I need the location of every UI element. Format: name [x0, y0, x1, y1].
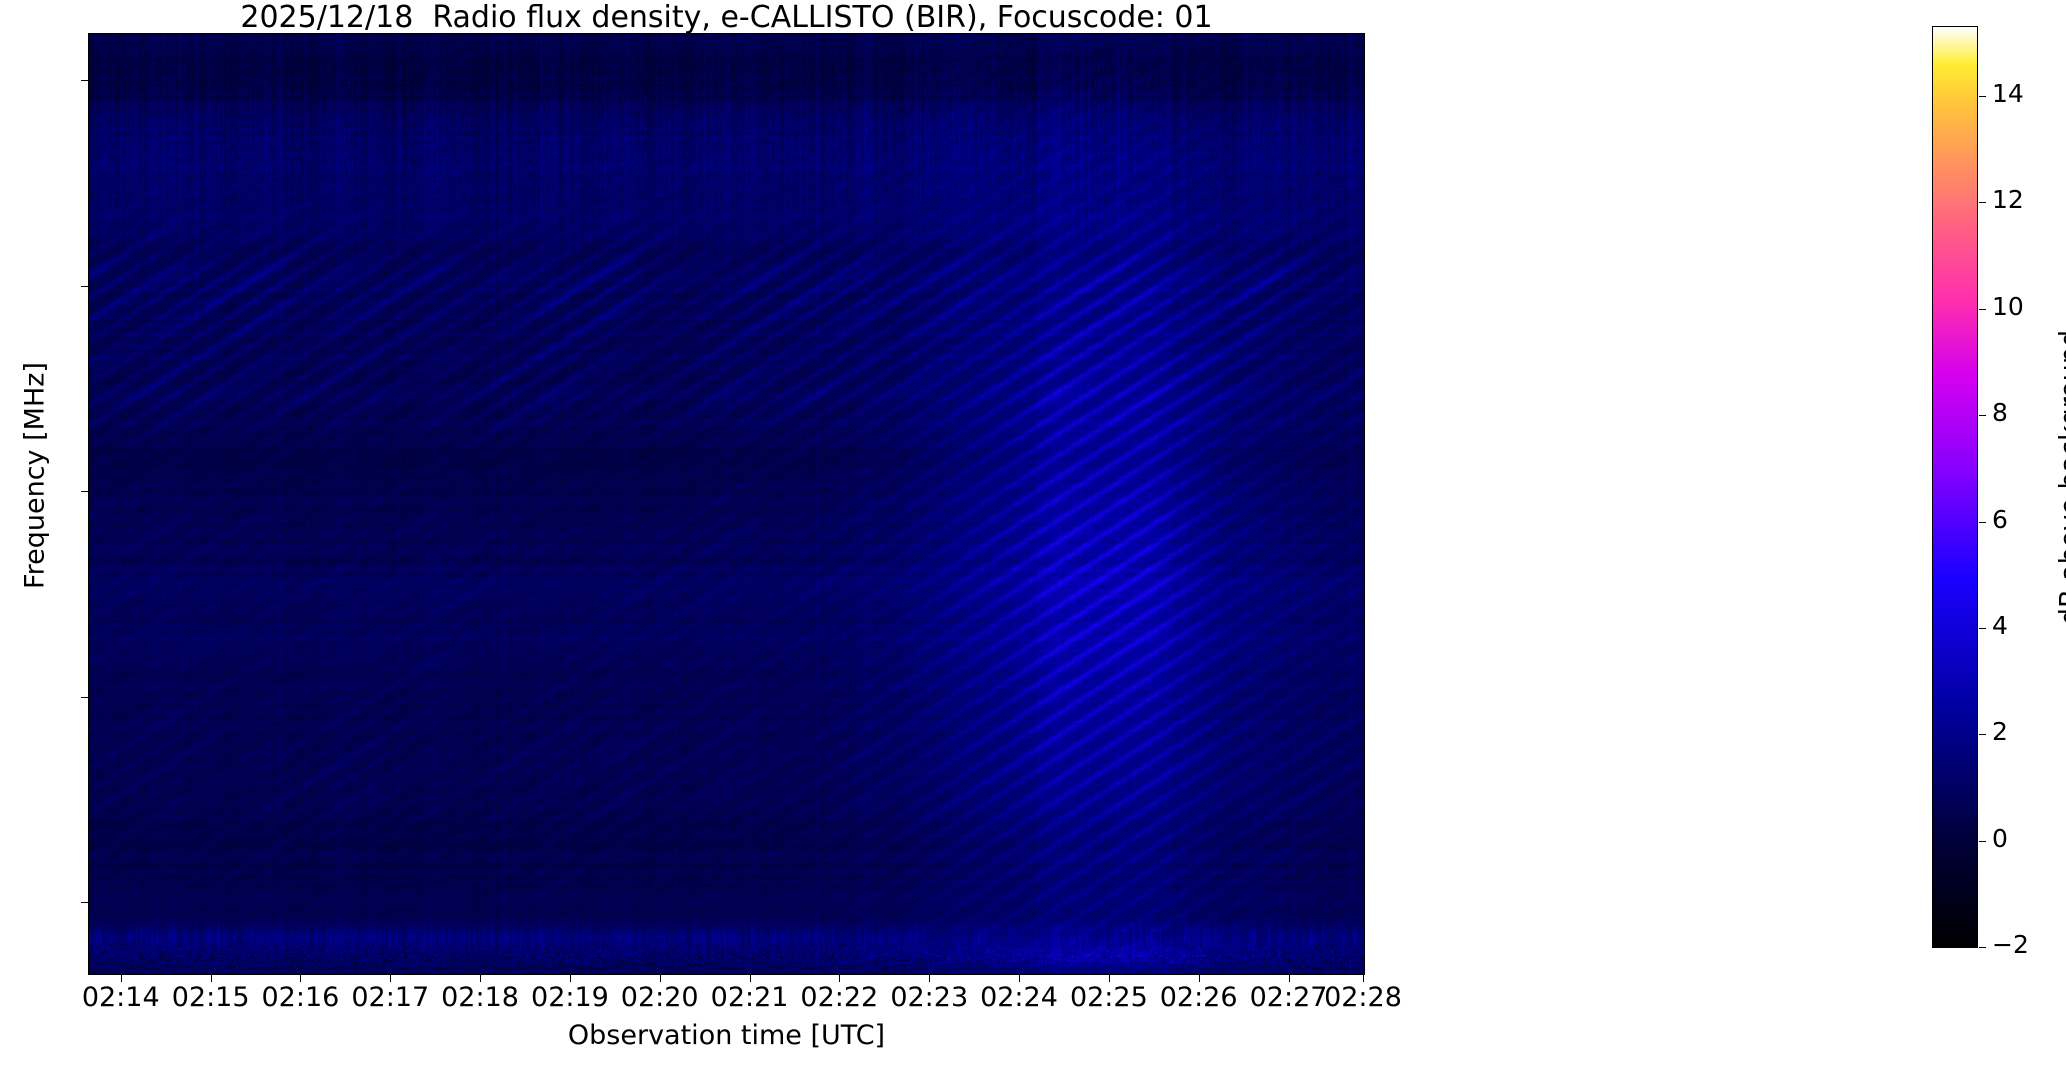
colorbar-tick-label: 14 — [1992, 79, 2024, 108]
colorbar-tick-label: 12 — [1992, 185, 2024, 214]
colorbar-tick-mark — [1979, 415, 1986, 416]
colorbar-tick-mark — [1979, 202, 1986, 203]
colorbar-tick-label: −2 — [1992, 930, 2029, 959]
colorbar-tick-mark — [1979, 734, 1986, 735]
x-tick-label: 02:27 — [1250, 982, 1328, 1013]
x-tick-label: 02:26 — [1160, 982, 1238, 1013]
x-tick-mark — [1109, 975, 1110, 982]
y-tick-mark — [81, 286, 88, 287]
x-tick-label: 02:22 — [800, 982, 878, 1013]
x-tick-mark — [839, 975, 840, 982]
colorbar-tick-label: 2 — [1992, 717, 2008, 746]
y-tick-mark — [81, 80, 88, 81]
x-tick-mark — [121, 975, 122, 982]
colorbar-tick-label: 6 — [1992, 505, 2008, 534]
colorbar-tick-mark — [1979, 841, 1986, 842]
colorbar-tick-mark — [1979, 96, 1986, 97]
x-tick-label: 02:23 — [890, 982, 968, 1013]
x-tick-label: 02:20 — [621, 982, 699, 1013]
colorbar-tick-label: 8 — [1992, 398, 2008, 427]
colorbar-tick-label: 10 — [1992, 292, 2024, 321]
x-tick-label: 02:16 — [261, 982, 339, 1013]
y-tick-mark — [81, 697, 88, 698]
y-tick-mark — [81, 902, 88, 903]
colorbar-tick-mark — [1979, 947, 1986, 948]
y-axis-label: Frequency [MHz] — [20, 196, 51, 756]
x-tick-mark — [300, 975, 301, 982]
x-tick-mark — [211, 975, 212, 982]
x-axis-label: Observation time [UTC] — [88, 1020, 1365, 1051]
colorbar-label: dB above background — [2055, 198, 2066, 758]
x-tick-mark — [1019, 975, 1020, 982]
x-tick-mark — [390, 975, 391, 982]
x-tick-mark — [1363, 975, 1364, 982]
colorbar-tick-label: 0 — [1992, 824, 2008, 853]
x-tick-label: 02:25 — [1070, 982, 1148, 1013]
x-tick-mark — [1289, 975, 1290, 982]
spectrogram-image[interactable] — [89, 34, 1364, 974]
y-tick-mark — [81, 491, 88, 492]
colorbar-tick-mark — [1979, 309, 1986, 310]
x-tick-mark — [570, 975, 571, 982]
colorbar-tick-label: 4 — [1992, 611, 2008, 640]
x-tick-label: 02:24 — [980, 982, 1058, 1013]
x-tick-label: 02:15 — [172, 982, 250, 1013]
x-tick-label: 02:19 — [531, 982, 609, 1013]
spectrogram-figure: 2025/12/18 Radio flux density, e-CALLIST… — [0, 0, 2066, 1067]
x-tick-mark — [750, 975, 751, 982]
x-tick-label: 02:18 — [441, 982, 519, 1013]
colorbar-gradient — [1933, 27, 1977, 947]
x-tick-label: 02:14 — [82, 982, 160, 1013]
x-tick-mark — [660, 975, 661, 982]
x-tick-label: 02:21 — [711, 982, 789, 1013]
x-tick-mark — [1199, 975, 1200, 982]
page-title: 2025/12/18 Radio flux density, e-CALLIST… — [88, 2, 1365, 34]
x-tick-label: 02:17 — [351, 982, 429, 1013]
colorbar[interactable] — [1932, 26, 1978, 948]
colorbar-tick-mark — [1979, 628, 1986, 629]
x-tick-mark — [480, 975, 481, 982]
x-tick-mark — [929, 975, 930, 982]
colorbar-tick-mark — [1979, 522, 1986, 523]
spectrogram-axes[interactable] — [88, 33, 1365, 975]
x-tick-label: 02:28 — [1324, 982, 1402, 1013]
